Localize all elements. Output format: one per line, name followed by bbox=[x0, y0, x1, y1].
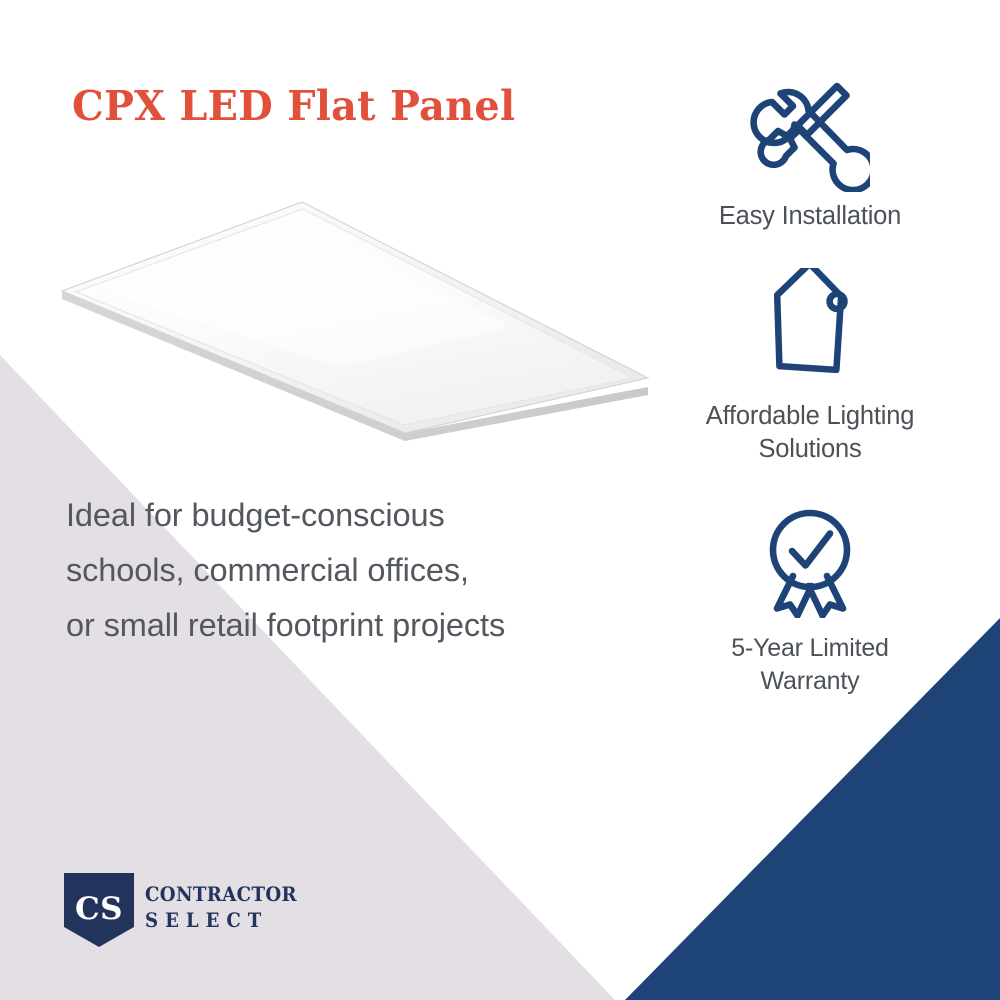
product-image-led-flat-panel bbox=[40, 175, 680, 455]
logo-wordmark: CONTRACTOR SELECT bbox=[145, 885, 308, 930]
feature-label-easy-installation: Easy Installation bbox=[640, 200, 980, 233]
logo-monogram: CS bbox=[75, 891, 123, 927]
logo-word-contractor: CONTRACTOR bbox=[145, 885, 297, 905]
promo-graphic-canvas: CPX LED Flat Panel Ideal bbox=[0, 0, 1000, 1000]
shield-icon: CS bbox=[62, 871, 136, 949]
body-copy-line-2: schools, commercial offices, bbox=[66, 543, 646, 598]
feature-label-warranty: 5-Year Limited Warranty bbox=[640, 632, 980, 698]
award-ribbon-check-icon bbox=[750, 498, 870, 618]
body-copy-line-3: or small retail footprint projects bbox=[66, 598, 646, 653]
feature-easy-installation: Easy Installation bbox=[640, 72, 980, 233]
body-copy-line-1: Ideal for budget-conscious bbox=[66, 488, 646, 543]
wrench-screwdriver-icon bbox=[750, 72, 870, 192]
page-title: CPX LED Flat Panel bbox=[72, 82, 515, 130]
feature-warranty: 5-Year Limited Warranty bbox=[640, 498, 980, 698]
feature-label-affordable-lighting: Affordable Lighting Solutions bbox=[640, 400, 980, 466]
body-copy: Ideal for budget-conscious schools, comm… bbox=[66, 488, 646, 653]
price-tag-icon bbox=[751, 268, 869, 386]
logo-word-select: SELECT bbox=[145, 911, 297, 931]
feature-affordable-lighting: Affordable Lighting Solutions bbox=[640, 268, 980, 466]
contractor-select-logo[interactable]: CS CONTRACTOR SELECT bbox=[62, 871, 272, 949]
